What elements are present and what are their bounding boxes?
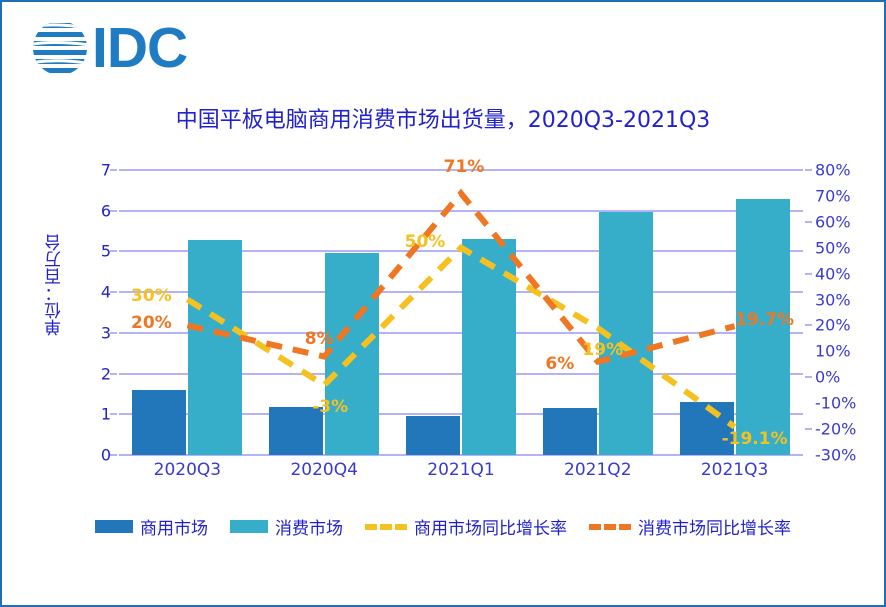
idc-globe-icon xyxy=(30,18,90,78)
y2-axis-tick: 20% xyxy=(815,316,851,335)
y-axis-tick-mark xyxy=(110,373,117,375)
y-axis-tick-mark xyxy=(110,332,117,334)
data-label-consumer-growth: 6% xyxy=(545,354,574,374)
y2-axis-tick: 80% xyxy=(815,161,851,180)
legend-dash-icon xyxy=(589,524,631,530)
data-label-commercial-growth: -19.1% xyxy=(722,429,788,449)
x-axis-label: 2020Q3 xyxy=(119,460,256,488)
y2-axis-tick: 70% xyxy=(815,186,851,205)
y2-axis-tick: 10% xyxy=(815,342,851,361)
line-series-layer xyxy=(119,170,803,455)
y2-axis-tick: 60% xyxy=(815,212,851,231)
y2-axis-tick-mark xyxy=(805,324,812,326)
y2-axis-tick-mark xyxy=(805,273,812,275)
x-axis-label: 2020Q4 xyxy=(256,460,393,488)
x-axis-labels: 2020Q32020Q42021Q12021Q22021Q3 xyxy=(119,460,803,488)
legend-item[interactable]: 消费市场同比增长率 xyxy=(589,514,791,539)
data-label-commercial-growth: -3% xyxy=(312,397,348,417)
legend-item[interactable]: 商用市场 xyxy=(95,514,208,539)
y2-axis-tick: 40% xyxy=(815,264,851,283)
data-label-commercial-growth: 19% xyxy=(582,340,623,360)
legend-label: 商用市场同比增长率 xyxy=(414,514,567,539)
legend-label: 商用市场 xyxy=(140,514,208,539)
data-label-commercial-growth: 50% xyxy=(405,232,446,252)
data-label-commercial-growth: 30% xyxy=(131,286,172,306)
data-label-consumer-growth: 71% xyxy=(444,157,485,177)
line-consumer-growth xyxy=(187,193,734,361)
y2-axis-tick: 30% xyxy=(815,290,851,309)
y-axis-tick-mark xyxy=(110,413,117,415)
y2-axis-tick: -30% xyxy=(815,446,856,465)
y2-axis-tick: -10% xyxy=(815,394,856,413)
legend-swatch-icon xyxy=(230,520,268,533)
data-label-consumer-growth: 8% xyxy=(305,329,334,349)
x-axis-label: 2021Q1 xyxy=(393,460,530,488)
line-commercial-growth xyxy=(187,248,734,427)
x-axis-label: 2021Q3 xyxy=(666,460,803,488)
chart-title: 中国平板电脑商用消费市场出货量，2020Q3-2021Q3 xyxy=(2,102,884,134)
y2-axis-tick-mark xyxy=(805,221,812,223)
idc-logo: IDC xyxy=(30,18,187,78)
legend-label: 消费市场 xyxy=(275,514,343,539)
y-axis-tick-mark xyxy=(110,250,117,252)
chart-page: IDC 中国平板电脑商用消费市场出货量，2020Q3-2021Q3 单位：百万台… xyxy=(0,0,886,607)
y2-axis-tick-mark xyxy=(805,376,812,378)
y-axis-tick-mark xyxy=(110,169,117,171)
y-axis-title: 单位：百万台 xyxy=(42,234,67,336)
y2-axis-tick-mark xyxy=(805,169,812,171)
x-axis-label: 2021Q2 xyxy=(529,460,666,488)
data-label-consumer-growth: 20% xyxy=(131,313,172,333)
plot-area: 01234567-30%-20%-10%0%10%20%30%40%50%60%… xyxy=(119,170,803,455)
y2-axis-tick: -20% xyxy=(815,420,856,439)
y-axis-tick-mark xyxy=(110,210,117,212)
legend-swatch-icon xyxy=(95,520,133,533)
legend-item[interactable]: 消费市场 xyxy=(230,514,343,539)
y-axis-tick-mark xyxy=(110,291,117,293)
legend-dash-icon xyxy=(365,524,407,530)
chart-legend: 商用市场消费市场商用市场同比增长率消费市场同比增长率 xyxy=(2,514,884,539)
idc-wordmark: IDC xyxy=(92,18,187,78)
y-axis-tick-mark xyxy=(110,454,117,456)
data-label-consumer-growth: 19.7% xyxy=(735,310,794,330)
y2-axis-tick: 50% xyxy=(815,238,851,257)
y2-axis-tick: 0% xyxy=(815,368,840,387)
legend-label: 消费市场同比增长率 xyxy=(638,514,791,539)
y2-axis-tick-mark xyxy=(805,428,812,430)
legend-item[interactable]: 商用市场同比增长率 xyxy=(365,514,567,539)
